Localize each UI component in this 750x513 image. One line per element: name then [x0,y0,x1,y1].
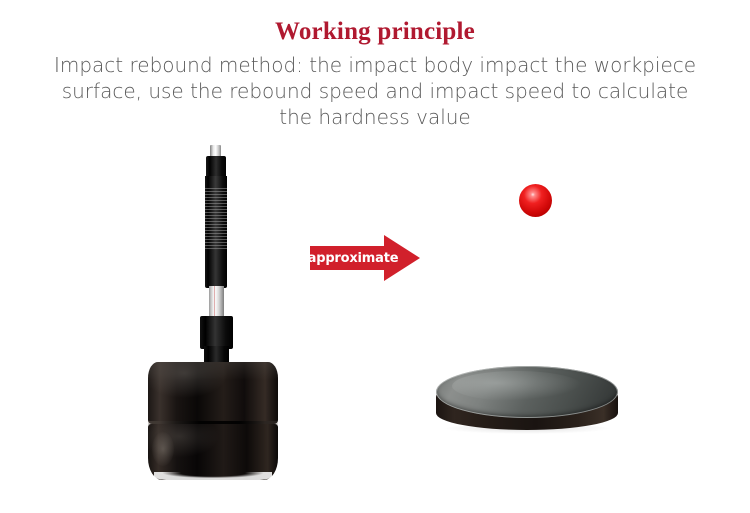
probe-collar [200,316,233,349]
disc-rim [436,366,618,418]
probe-base-top-face [148,362,278,380]
probe-sleeve-bottom [205,250,227,288]
working-principle-slide: Working principle Impact rebound method:… [0,0,750,513]
workpiece-disc [436,366,618,436]
impact-ball [519,184,552,217]
impact-device-illustration [140,140,290,445]
probe-base-highlight [152,432,174,466]
probe-sleeve-top [205,176,227,188]
probe-cap [206,156,226,178]
arrow-label: approximate [316,235,390,281]
page-subtitle: Impact rebound method: the impact body i… [45,52,705,130]
page-title: Working principle [0,18,750,46]
approximate-arrow: approximate [310,235,420,281]
probe-base-foot [154,472,272,482]
